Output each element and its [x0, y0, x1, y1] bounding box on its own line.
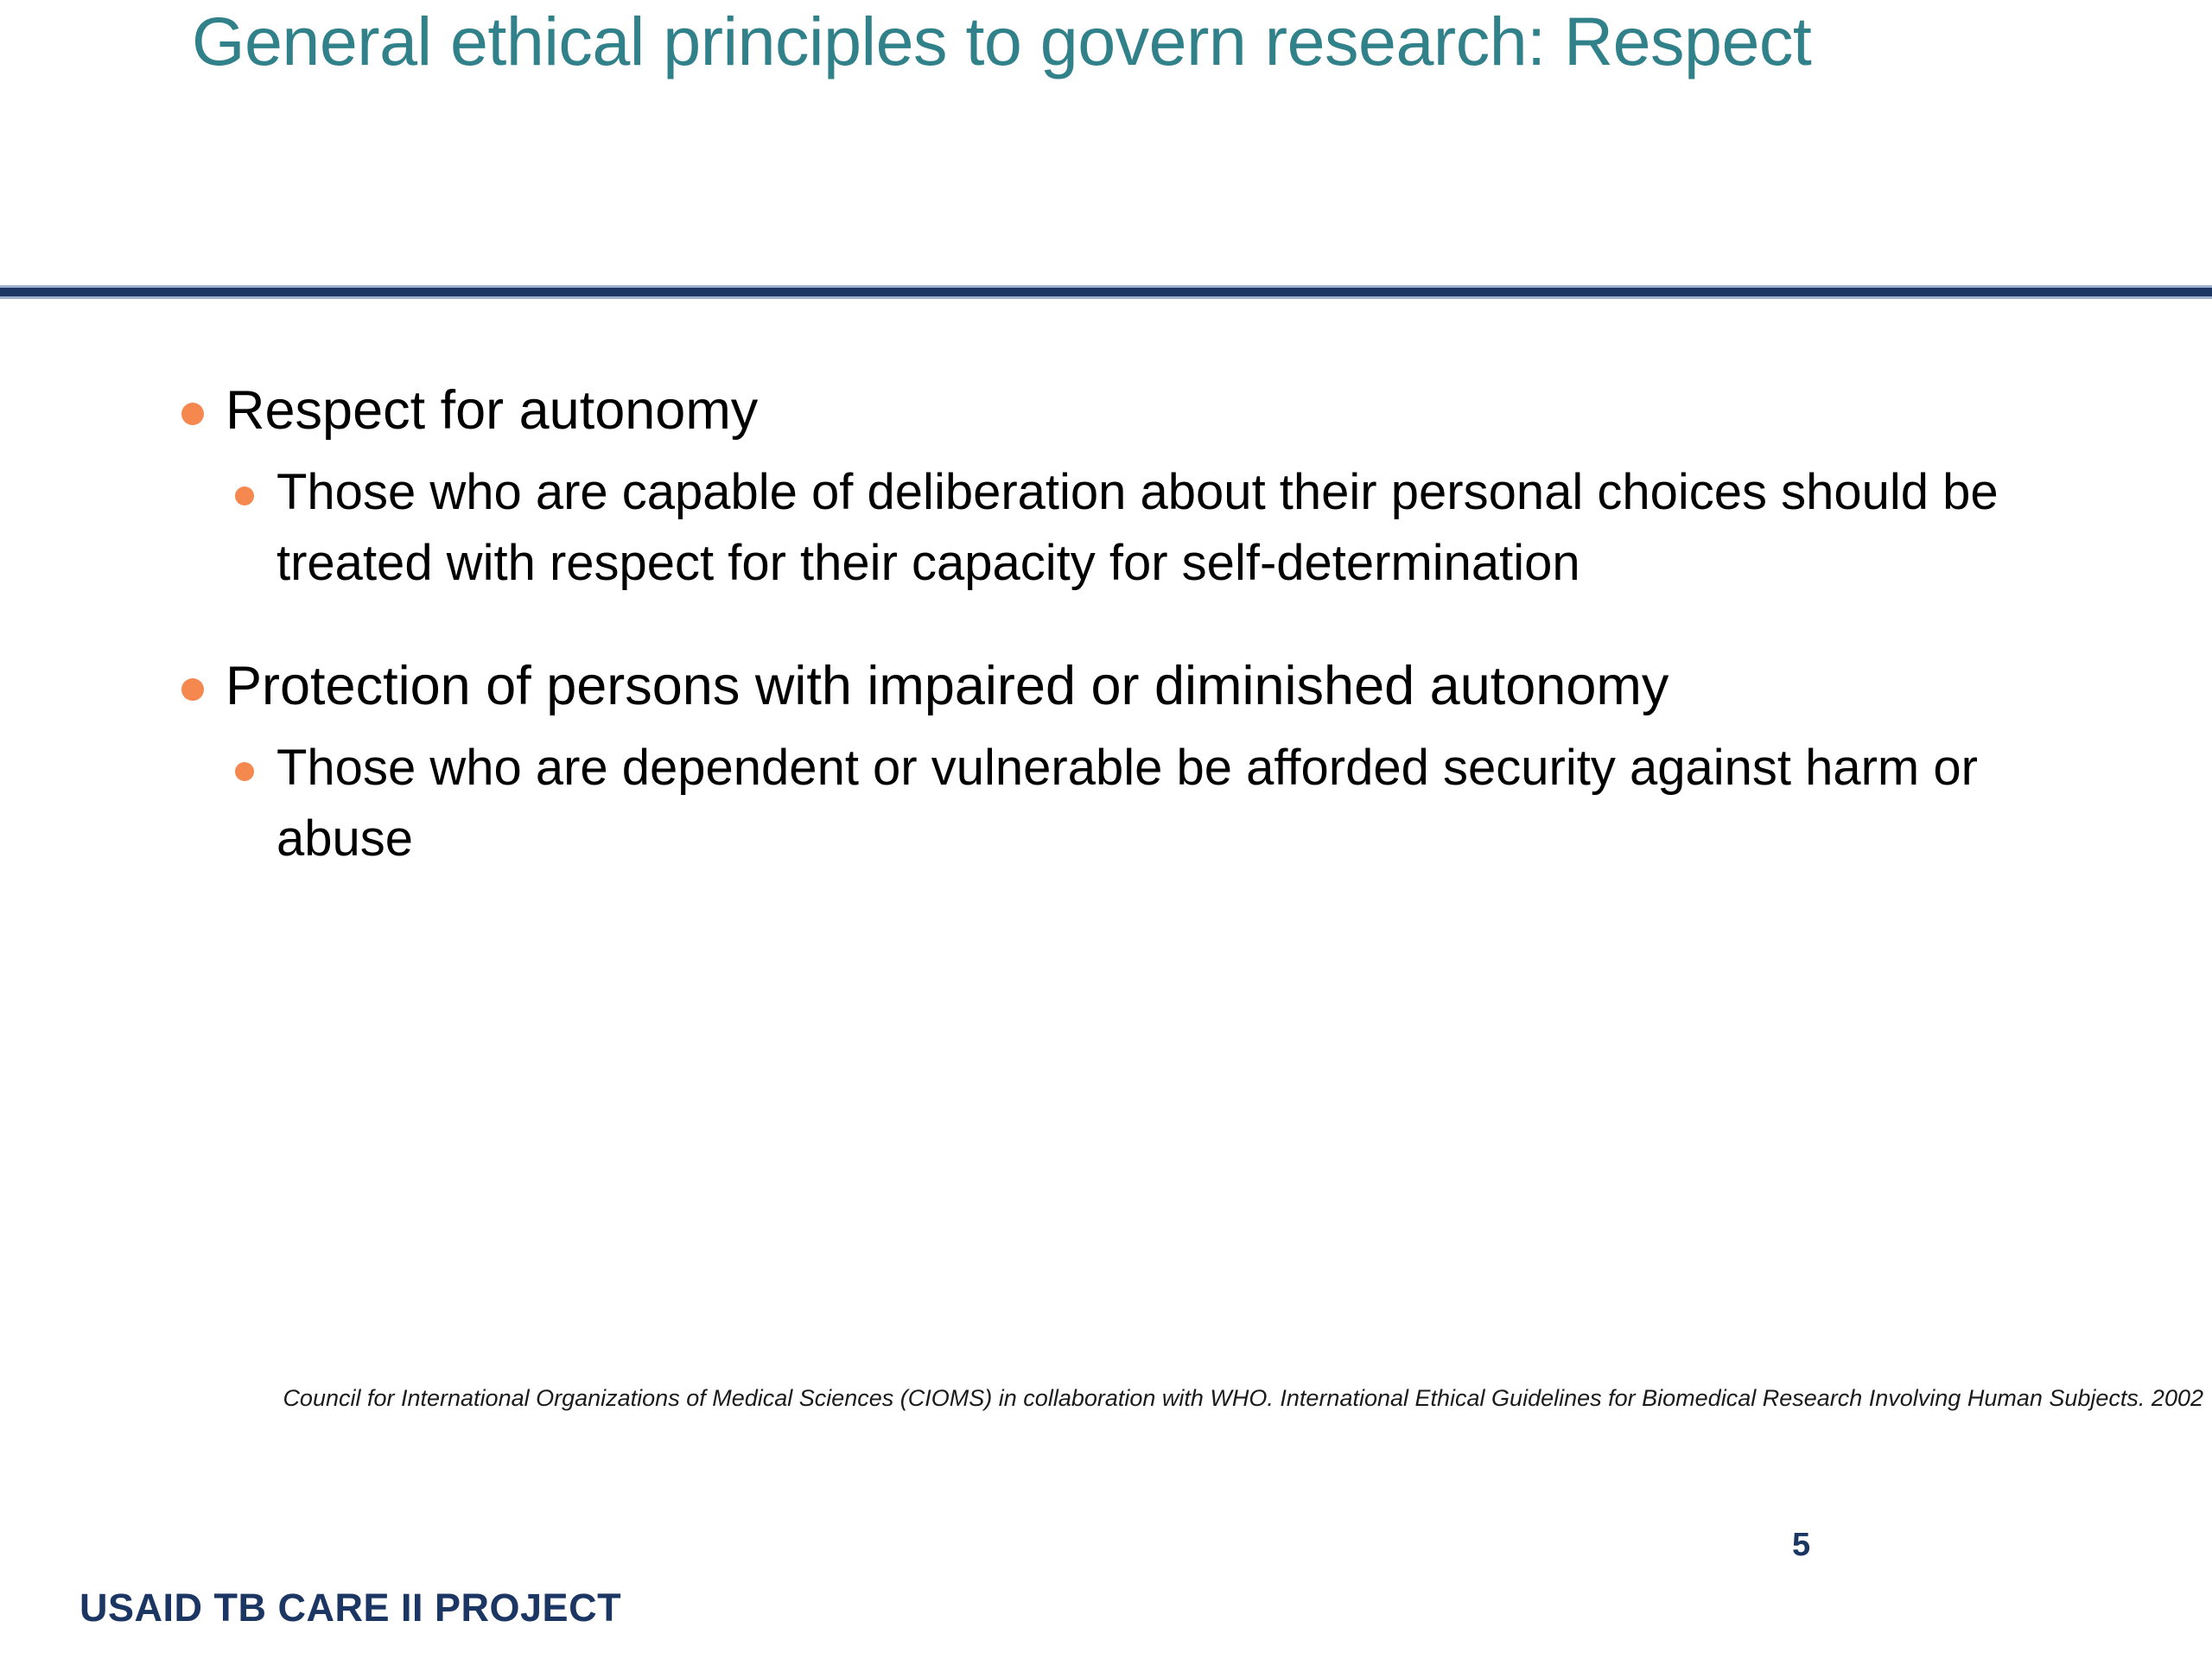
- source-citation: Council for International Organizations …: [91, 1379, 2203, 1417]
- bullet-item-level1: Protection of persons with impaired or d…: [0, 649, 2212, 724]
- bullet-text: Respect for autonomy: [226, 373, 758, 448]
- bullet-item-level2: Those who are capable of deliberation ab…: [0, 457, 2212, 599]
- header-divider-rule: [0, 285, 2212, 299]
- divider-edge-bottom: [0, 296, 2212, 299]
- divider-core: [0, 288, 2212, 296]
- bullet-item-level2: Those who are dependent or vulnerable be…: [0, 733, 2212, 874]
- bullet-text: Those who are capable of deliberation ab…: [276, 457, 2022, 599]
- bullet-item-level1: Respect for autonomy: [0, 373, 2212, 448]
- bullet-dot-icon: [181, 678, 204, 701]
- bullet-text: Those who are dependent or vulnerable be…: [276, 733, 2022, 874]
- slide-canvas: General ethical principles to govern res…: [0, 0, 2212, 1659]
- bullet-group-spacer: [0, 607, 2212, 649]
- content-body: Respect for autonomy Those who are capab…: [0, 373, 2212, 883]
- bullet-dot-icon: [235, 762, 254, 781]
- page-number: 5: [1792, 1527, 1810, 1564]
- bullet-dot-icon: [235, 486, 254, 505]
- bullet-dot-icon: [181, 403, 204, 425]
- title-block: General ethical principles to govern res…: [192, 2, 2093, 80]
- bullet-text: Protection of persons with impaired or d…: [226, 649, 1669, 724]
- page-title: General ethical principles to govern res…: [192, 2, 2093, 80]
- footer-brand-logo: USAID TB CARE II PROJECT: [79, 1586, 621, 1630]
